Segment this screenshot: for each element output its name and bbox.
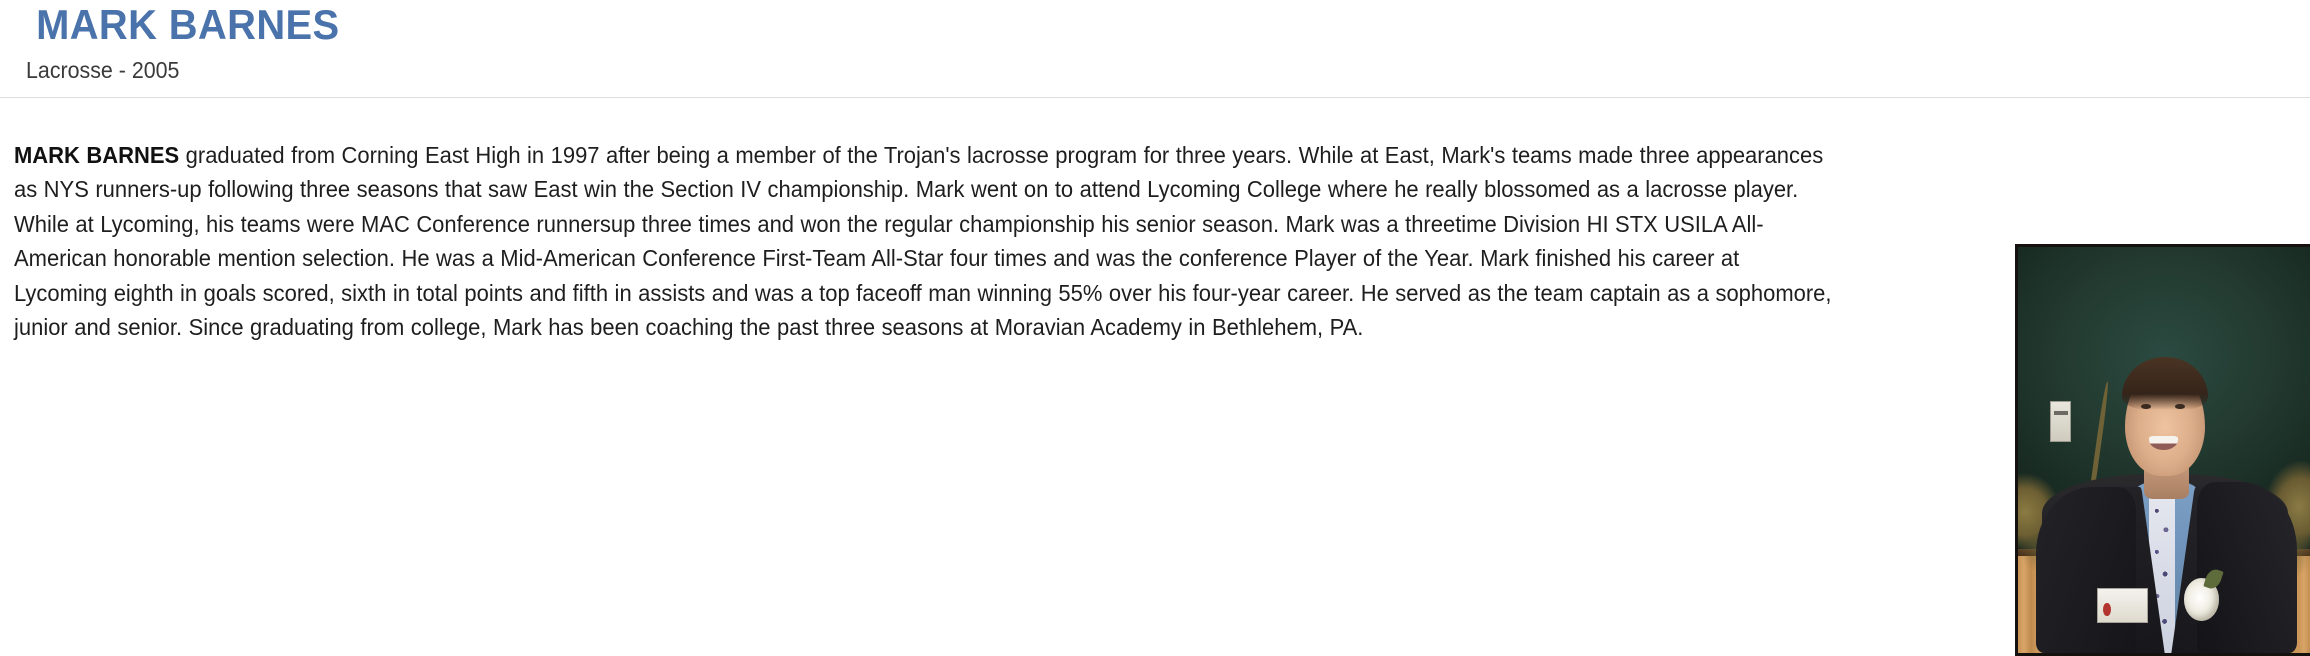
photo-eye-left <box>2141 404 2150 409</box>
photo-name-badge <box>2097 588 2148 622</box>
profile-page: MARK BARNES Lacrosse - 2005 MARK BARNES … <box>0 0 2310 580</box>
biography-lead-name: MARK BARNES <box>14 142 179 168</box>
profile-photo-image <box>2018 247 2310 653</box>
photo-boutonniere <box>2184 578 2219 621</box>
photo-eye-right <box>2175 404 2184 409</box>
biography-body: graduated from Corning East High in 1997… <box>14 142 1832 341</box>
biography-paragraph: MARK BARNES graduated from Corning East … <box>14 138 1835 346</box>
page-title: MARK BARNES <box>0 0 2195 48</box>
profile-photo <box>2015 244 2310 656</box>
photo-shoulder-right <box>2197 482 2297 653</box>
photo-person <box>2018 247 2310 653</box>
profile-header: MARK BARNES Lacrosse - 2005 <box>0 0 2310 98</box>
sport-and-year-subtitle: Lacrosse - 2005 <box>0 48 2148 83</box>
photo-hair <box>2122 357 2207 410</box>
photo-shoulder-left <box>2036 487 2136 653</box>
header-divider <box>0 97 2310 98</box>
